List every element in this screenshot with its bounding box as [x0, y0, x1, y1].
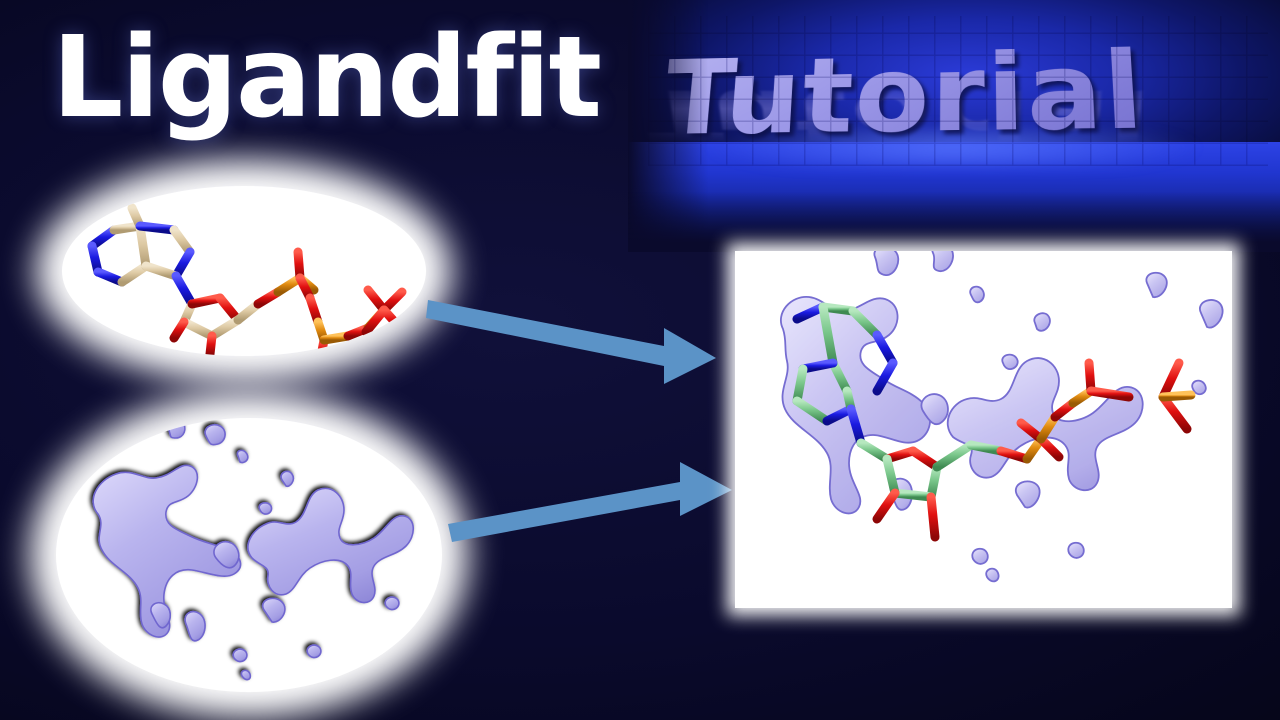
- ligand-model-clip: [62, 186, 426, 356]
- fitted-ligand-in-density-svg: [735, 251, 1232, 608]
- arrow-ligand-to-result: [426, 288, 724, 384]
- slide-canvas: Tutorial Tutorial Tutorial Ligandfit: [0, 0, 1280, 720]
- tutorial-text: Tutorial: [658, 18, 1278, 168]
- density-map-ellipse: [56, 418, 442, 692]
- atp-stick-model-svg: [62, 186, 426, 356]
- arrow-density-to-result: [448, 458, 734, 544]
- electron-density-surface-svg: [56, 418, 442, 692]
- density-envelope: [781, 251, 1223, 581]
- page-title: Ligandfit: [52, 22, 600, 134]
- fitted-result-panel: [735, 251, 1232, 608]
- density-map-clip: [56, 418, 442, 692]
- tutorial-banner: Tutorial Tutorial Tutorial: [628, 0, 1280, 252]
- ligand-model-ellipse: [62, 186, 426, 356]
- tutorial-bottom-fade: [628, 192, 1280, 252]
